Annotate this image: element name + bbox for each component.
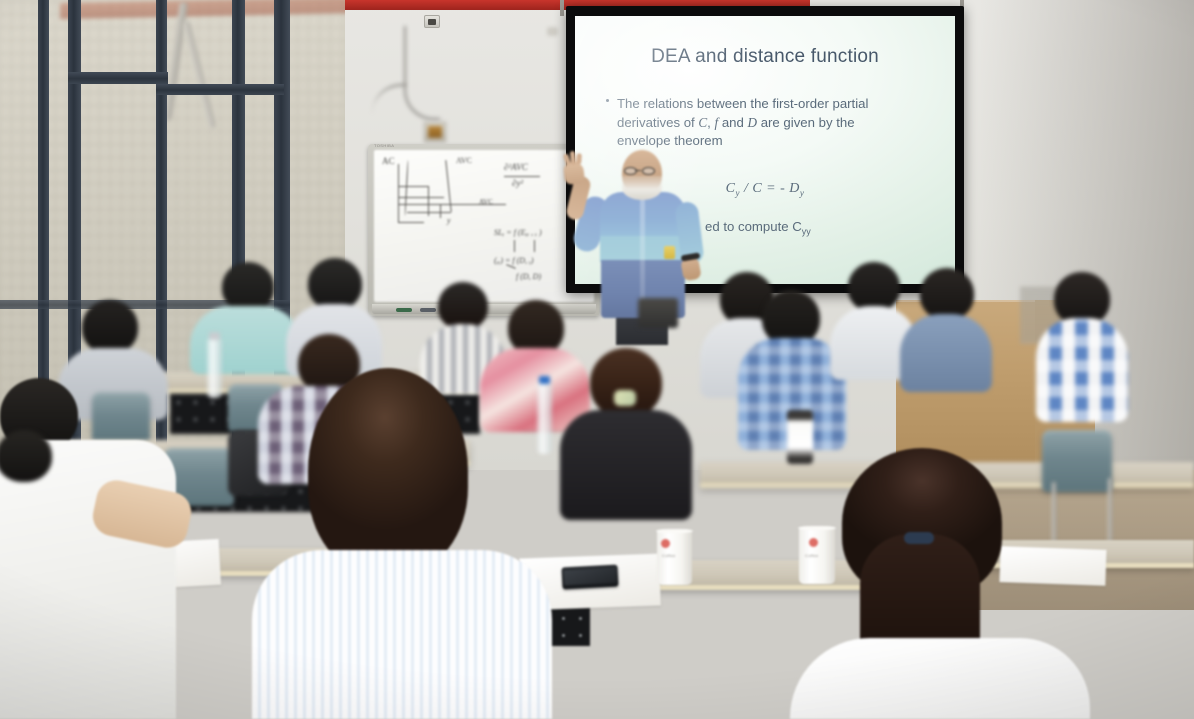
audience-head xyxy=(848,262,900,312)
whiteboard-label-y: y xyxy=(447,216,451,225)
whiteboard-surface: AC AVC AVC y ∂²AVC ∂y² SLᵧ = f (Eᵧᵧ , ᵧ … xyxy=(374,150,594,302)
audience-person xyxy=(0,430,66,550)
presenter-name-badge xyxy=(664,246,675,259)
hair-clip xyxy=(614,390,636,406)
whiteboard-marker xyxy=(396,308,412,312)
whiteboard-equation-2: (ᵧᵧ) = f (D, ᵧ) xyxy=(494,256,534,265)
laptop-bag xyxy=(638,298,678,328)
audience-head xyxy=(308,368,468,574)
classroom-lecture-photo: TOSHIBA AC AVC AVC y ∂²AVC ∂y² SLᵧ = f (… xyxy=(0,0,1194,719)
whiteboard-hline-1 xyxy=(398,186,428,187)
equation-subscript-y2: y xyxy=(800,188,805,198)
whiteboard-axis-x xyxy=(398,222,424,223)
slide-line3-subscript: yy xyxy=(802,227,811,237)
hair-tie xyxy=(904,532,934,544)
audience-torso xyxy=(252,550,552,719)
audience-torso xyxy=(900,314,992,392)
equation-rest: / C = - D xyxy=(740,181,800,196)
audience-person xyxy=(900,268,992,392)
whiteboard-arrow-1 xyxy=(514,240,515,252)
whiteboard-equation-1: SLᵧ = f (Eᵧᵧ , ᵧ ) xyxy=(494,228,542,237)
audience-person xyxy=(560,348,692,520)
whiteboard-vline-2 xyxy=(440,204,441,218)
audience-head xyxy=(590,348,662,418)
slide-bullet-item: The relations between the first-order pa… xyxy=(617,95,917,151)
slide-bullet-line3: envelope theorem xyxy=(617,133,723,148)
whiteboard-axis-y xyxy=(398,164,399,222)
slide-title: DEA and distance function xyxy=(575,46,955,68)
presenter-glasses-bridge xyxy=(635,170,641,171)
presenter-finger xyxy=(576,153,582,164)
cup-logo-icon xyxy=(661,539,670,548)
fire-alarm-box xyxy=(424,122,446,142)
window-mullion-horizontal xyxy=(156,84,284,95)
whiteboard-vline-1 xyxy=(428,186,429,216)
whiteboard-brand: TOSHIBA xyxy=(374,143,394,148)
ceiling-sensor xyxy=(548,28,557,35)
slide-bullet-line2-post: are given by the xyxy=(757,115,855,130)
whiteboard-label-avc-top: AVC xyxy=(456,156,472,165)
audience-person xyxy=(1036,272,1128,422)
whiteboard-curve-base xyxy=(407,212,451,213)
slide-bullet-line2-pre: derivatives of xyxy=(617,115,698,130)
slide-var-d: D xyxy=(748,115,758,130)
audience-head xyxy=(0,430,52,482)
presenter-glasses-right xyxy=(642,167,655,175)
smartphone xyxy=(561,565,618,590)
audience-torso xyxy=(790,638,1090,719)
equation-c: C xyxy=(726,181,736,196)
whiteboard-hline-2 xyxy=(398,197,444,198)
hanging-cable xyxy=(404,26,440,120)
paper-cup: Coffee xyxy=(657,531,692,585)
screen-mount-left xyxy=(560,0,564,16)
slide-bullet-line1: The relations between the first-order pa… xyxy=(617,96,868,111)
window-mullion-horizontal xyxy=(68,72,168,84)
audience-torso xyxy=(1036,318,1128,422)
whiteboard-derivative-numerator: ∂²AVC xyxy=(504,162,528,172)
whiteboard-equation-3: f (D, D) xyxy=(516,272,541,281)
whiteboard-curve-left xyxy=(405,160,409,216)
slide-and: and xyxy=(718,115,747,130)
audience-head xyxy=(308,258,362,310)
cup-brand-text: Coffee xyxy=(662,553,676,558)
water-bottle xyxy=(207,338,222,398)
audience-torso xyxy=(560,410,692,520)
presenter-beard xyxy=(622,176,662,200)
whiteboard-derivative-denominator: ∂y² xyxy=(512,178,523,188)
bottle-cap xyxy=(209,332,220,340)
audience-person-foreground-right xyxy=(790,448,1090,719)
audience-head xyxy=(82,300,138,354)
slide-line3-text: ed to compute C xyxy=(705,219,802,234)
slide-var-c: C xyxy=(698,115,707,130)
whiteboard-hline-3 xyxy=(398,204,506,205)
whiteboard-arrow-2 xyxy=(534,240,535,252)
audience-head xyxy=(222,262,274,312)
audience-head xyxy=(920,268,974,320)
whiteboard-label-ac: AC xyxy=(382,156,395,166)
audience-person-foreground-center xyxy=(252,368,552,719)
bullet-dot-icon xyxy=(606,99,609,102)
slide-comma: , xyxy=(707,115,714,130)
